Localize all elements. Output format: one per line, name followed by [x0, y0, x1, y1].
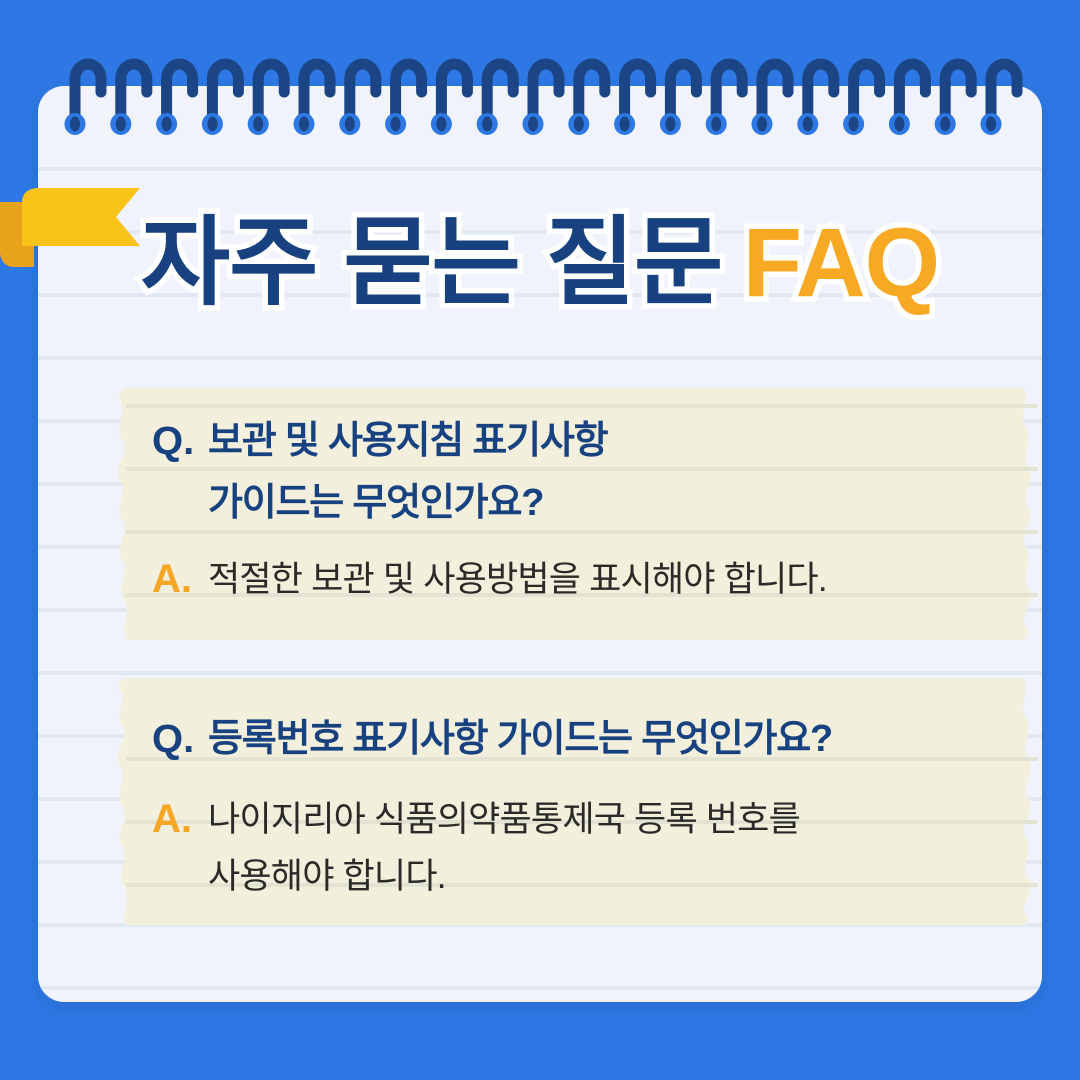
- ring-pin-icon: [574, 117, 584, 132]
- question-text-line-0: 등록번호 표기사항 가이드는 무엇인가요?: [208, 716, 832, 764]
- faq-item-1[interactable]: Q. 등록번호 표기사항 가이드는 무엇인가요? A. 나이지리아 식품의약품통…: [112, 678, 1042, 925]
- question-text-line-1: 가이드는 무엇인가요?: [208, 480, 543, 528]
- answer-marker: A.: [152, 556, 208, 602]
- ring-pin-icon: [299, 117, 309, 132]
- page-title-faq: FAQ: [743, 214, 939, 311]
- ring-pin-icon: [711, 117, 721, 132]
- answer-text-line-0: 나이지리아 식품의약품통제국 등록 번호를: [208, 796, 800, 844]
- ring-pin-icon: [70, 117, 80, 132]
- answer-marker: A.: [152, 796, 208, 842]
- answer-line: A. 나이지리아 식품의약품통제국 등록 번호를 사용해야 합니다.: [152, 796, 1032, 901]
- question-marker: Q.: [152, 418, 208, 464]
- answer-text-block: 나이지리아 식품의약품통제국 등록 번호를 사용해야 합니다.: [208, 796, 800, 901]
- question-line: Q. 보관 및 사용지침 표기사항: [152, 418, 1032, 466]
- spiral-binding: [0, 52, 1080, 144]
- faq-item-0[interactable]: Q. 보관 및 사용지침 표기사항 가이드는 무엇인가요? A. 적절한 보관 …: [112, 388, 1042, 640]
- ring-pin-icon: [665, 117, 675, 132]
- ring-pin-icon: [391, 117, 401, 132]
- ring-pin-icon: [940, 117, 950, 132]
- ring-pin-icon: [986, 117, 996, 132]
- ring-pin-icon: [116, 117, 126, 132]
- ring-pin-icon: [849, 117, 859, 132]
- ring-pin-icon: [482, 117, 492, 132]
- ring-pin-icon: [757, 117, 767, 132]
- ring-pin-icon: [894, 117, 904, 132]
- page-title: 자주 묻는 질문 FAQ: [0, 214, 1080, 311]
- question-line: 가이드는 무엇인가요?: [152, 480, 1032, 528]
- ring-pin-icon: [207, 117, 217, 132]
- page-title-korean: 자주 묻는 질문: [141, 214, 722, 311]
- answer-line: A. 적절한 보관 및 사용방법을 표시해야 합니다.: [152, 556, 1032, 604]
- ring-pin-icon: [528, 117, 538, 132]
- ring-pin-icon: [620, 117, 630, 132]
- question-marker: Q.: [152, 716, 208, 762]
- question-line: Q. 등록번호 표기사항 가이드는 무엇인가요?: [152, 716, 1032, 764]
- answer-text-line-1: 사용해야 합니다.: [208, 853, 800, 901]
- ring-pin-icon: [162, 117, 172, 132]
- ring-pin-icon: [803, 117, 813, 132]
- ring-pin-icon: [253, 117, 263, 132]
- ring-pin-icon: [436, 117, 446, 132]
- bookmark-ribbon-icon: [0, 168, 146, 268]
- question-text-line-0: 보관 및 사용지침 표기사항: [208, 418, 607, 466]
- answer-text-line-0: 적절한 보관 및 사용방법을 표시해야 합니다.: [208, 556, 827, 604]
- ring-pin-icon: [345, 117, 355, 132]
